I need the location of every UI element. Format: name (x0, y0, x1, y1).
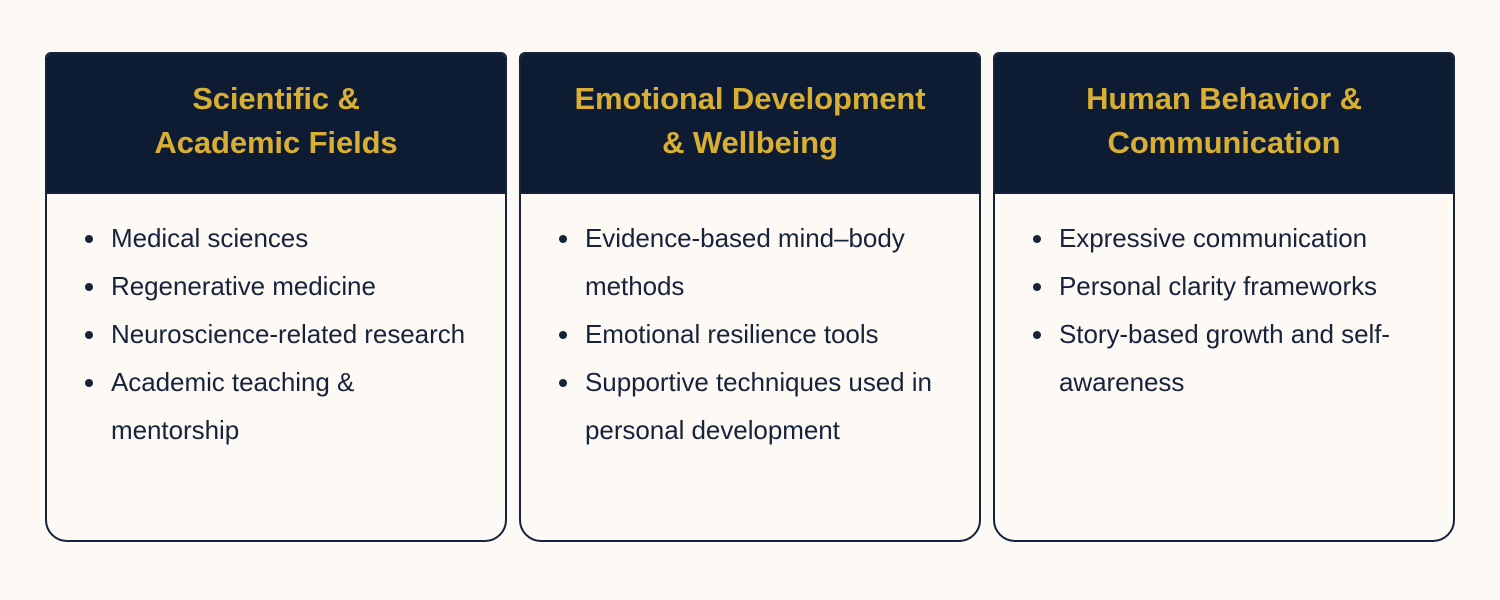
bullet-dot-icon (559, 331, 567, 339)
list-item-label: Personal clarity frameworks (1059, 271, 1377, 301)
list-item: Evidence-based mind–body methods (583, 214, 953, 310)
list-item: Expressive communication (1057, 214, 1427, 262)
list-item-label: Story-based growth and self-awareness (1059, 319, 1390, 397)
bullet-dot-icon (85, 379, 93, 387)
card-human-behavior-communication: Human Behavior & Communication Expressiv… (993, 52, 1455, 542)
bullet-dot-icon (559, 379, 567, 387)
card-title: Scientific & Academic Fields (154, 77, 397, 165)
list-item-label: Supportive techniques used in personal d… (585, 367, 932, 445)
list-item-label: Academic teaching & mentorship (111, 367, 354, 445)
list-item: Medical sciences (109, 214, 479, 262)
list-item: Personal clarity frameworks (1057, 262, 1427, 310)
bullet-list: Evidence-based mind–body methods Emotion… (547, 214, 953, 454)
list-item-label: Expressive communication (1059, 223, 1367, 253)
bullet-list: Expressive communication Personal clarit… (1021, 214, 1427, 406)
bullet-dot-icon (1033, 235, 1041, 243)
card-body: Evidence-based mind–body methods Emotion… (521, 194, 979, 540)
list-item-label: Neuroscience-related research (111, 319, 465, 349)
card-scientific-academic-fields: Scientific & Academic Fields Medical sci… (45, 52, 507, 542)
card-header: Emotional Development & Wellbeing (521, 54, 979, 194)
list-item: Supportive techniques used in personal d… (583, 358, 953, 454)
bullet-dot-icon (559, 235, 567, 243)
card-body: Medical sciences Regenerative medicine N… (47, 194, 505, 540)
list-item: Emotional resilience tools (583, 310, 953, 358)
card-body: Expressive communication Personal clarit… (995, 194, 1453, 540)
bullet-dot-icon (1033, 283, 1041, 291)
list-item-label: Emotional resilience tools (585, 319, 879, 349)
list-item-label: Regenerative medicine (111, 271, 376, 301)
bullet-dot-icon (85, 331, 93, 339)
list-item: Neuroscience-related research (109, 310, 479, 358)
bullet-dot-icon (85, 235, 93, 243)
list-item-label: Medical sciences (111, 223, 308, 253)
list-item: Story-based growth and self-awareness (1057, 310, 1427, 406)
bullet-list: Medical sciences Regenerative medicine N… (73, 214, 479, 454)
bullet-dot-icon (1033, 331, 1041, 339)
list-item: Academic teaching & mentorship (109, 358, 479, 454)
list-item-label: Evidence-based mind–body methods (585, 223, 905, 301)
three-column-card-layout: Scientific & Academic Fields Medical sci… (0, 0, 1500, 600)
list-item: Regenerative medicine (109, 262, 479, 310)
bullet-dot-icon (85, 283, 93, 291)
card-header: Scientific & Academic Fields (47, 54, 505, 194)
card-title: Emotional Development & Wellbeing (574, 77, 925, 165)
card-title: Human Behavior & Communication (1086, 77, 1362, 165)
card-header: Human Behavior & Communication (995, 54, 1453, 194)
card-emotional-development-wellbeing: Emotional Development & Wellbeing Eviden… (519, 52, 981, 542)
